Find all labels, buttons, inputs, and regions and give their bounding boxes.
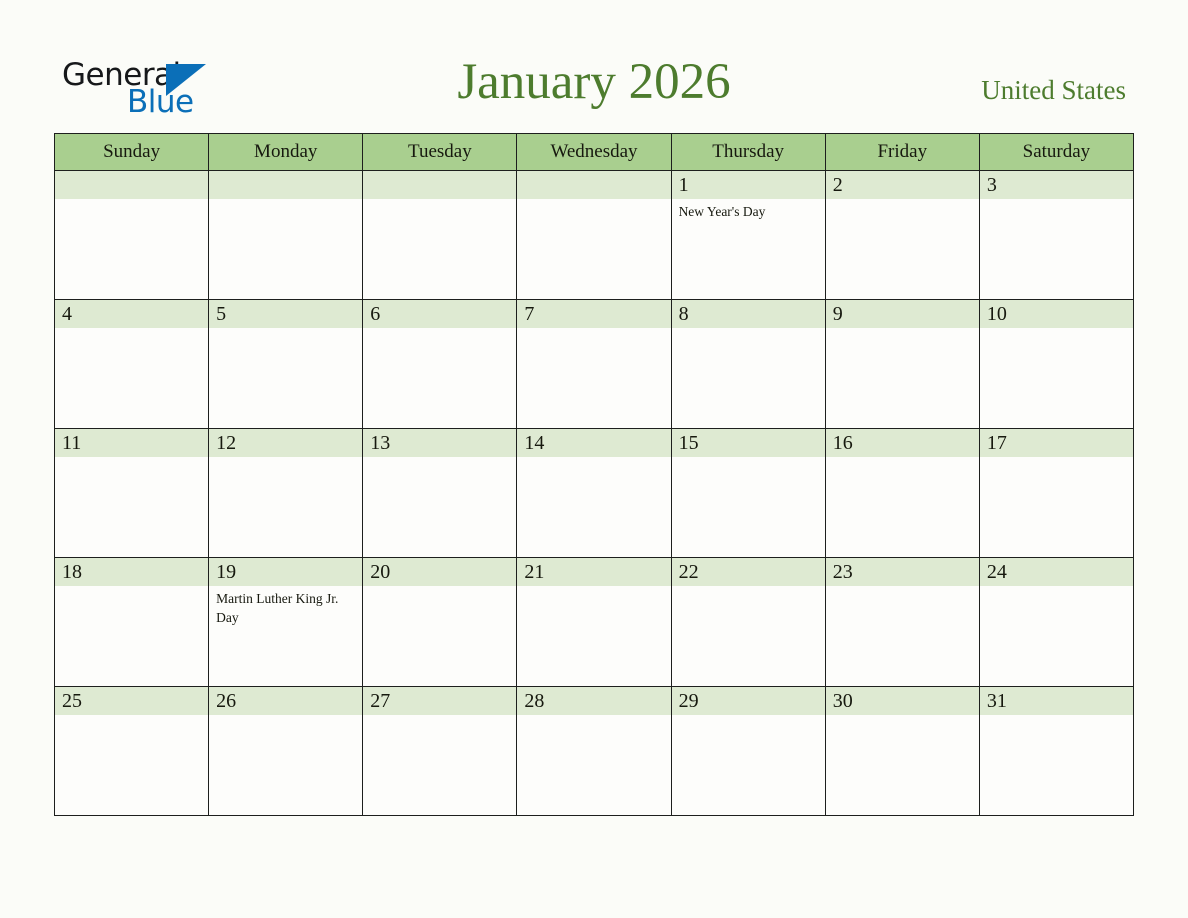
weekday-header-row: SundayMondayTuesdayWednesdayThursdayFrid… [55,134,1134,171]
day-cell-inner: 21 [517,558,670,686]
calendar-empty-cell [209,171,363,300]
day-number-band [672,300,825,328]
calendar-day-cell[interactable]: 26 [209,687,363,816]
calendar-day-cell[interactable]: 25 [55,687,209,816]
day-cell-inner: 14 [517,429,670,557]
day-cell-inner: 19Martin Luther King Jr. Day [209,558,362,686]
day-cell-inner: 24 [980,558,1133,686]
day-number: 26 [216,689,236,714]
calendar-day-cell[interactable]: 19Martin Luther King Jr. Day [209,558,363,687]
day-number: 23 [833,560,853,585]
day-number: 4 [62,302,72,327]
day-cell-inner: 7 [517,300,670,428]
day-cell-inner: 9 [826,300,979,428]
weekday-header-tuesday: Tuesday [363,134,517,171]
day-number: 17 [987,431,1007,456]
day-number-band [363,300,516,328]
calendar-day-cell[interactable]: 6 [363,300,517,429]
calendar-day-cell[interactable]: 23 [825,558,979,687]
calendar-day-cell[interactable]: 14 [517,429,671,558]
day-cell-inner [55,171,208,299]
day-number: 6 [370,302,380,327]
day-number-band [55,171,208,199]
day-number: 13 [370,431,390,456]
day-cell-inner: 3 [980,171,1133,299]
calendar-day-cell[interactable]: 24 [979,558,1133,687]
day-number: 29 [679,689,699,714]
day-cell-inner: 25 [55,687,208,815]
country-label: United States [981,74,1126,106]
calendar-day-cell[interactable]: 2 [825,171,979,300]
holiday-label: New Year's Day [679,202,820,221]
calendar-week-row: 11121314151617 [55,429,1134,558]
day-cell-inner: 30 [826,687,979,815]
calendar-day-cell[interactable]: 18 [55,558,209,687]
day-cell-inner: 17 [980,429,1133,557]
day-cell-inner [209,171,362,299]
calendar-day-cell[interactable]: 8 [671,300,825,429]
day-number: 10 [987,302,1007,327]
calendar-day-cell[interactable]: 3 [979,171,1133,300]
day-number-band [363,171,516,199]
calendar-day-cell[interactable]: 15 [671,429,825,558]
day-number-band [55,300,208,328]
day-events: New Year's Day [679,202,820,221]
day-events: Martin Luther King Jr. Day [216,589,357,627]
calendar-day-cell[interactable]: 28 [517,687,671,816]
day-cell-inner: 5 [209,300,362,428]
day-cell-inner: 27 [363,687,516,815]
calendar-day-cell[interactable]: 7 [517,300,671,429]
calendar-day-cell[interactable]: 16 [825,429,979,558]
calendar-week-row: 25262728293031 [55,687,1134,816]
calendar-day-cell[interactable]: 5 [209,300,363,429]
calendar-day-cell[interactable]: 4 [55,300,209,429]
day-number: 14 [524,431,544,456]
day-number: 7 [524,302,534,327]
calendar-empty-cell [55,171,209,300]
weekday-header-saturday: Saturday [979,134,1133,171]
calendar-day-cell[interactable]: 13 [363,429,517,558]
calendar-day-cell[interactable]: 17 [979,429,1133,558]
day-cell-inner: 4 [55,300,208,428]
calendar-day-cell[interactable]: 20 [363,558,517,687]
calendar-week-row: 1819Martin Luther King Jr. Day2021222324 [55,558,1134,687]
day-number: 12 [216,431,236,456]
day-number: 15 [679,431,699,456]
day-cell-inner: 28 [517,687,670,815]
day-number: 22 [679,560,699,585]
calendar-day-cell[interactable]: 27 [363,687,517,816]
month-calendar-grid: SundayMondayTuesdayWednesdayThursdayFrid… [54,133,1134,816]
weekday-header-wednesday: Wednesday [517,134,671,171]
calendar-day-cell[interactable]: 21 [517,558,671,687]
day-number-band [209,300,362,328]
day-number-band [980,171,1133,199]
day-number: 5 [216,302,226,327]
calendar-empty-cell [517,171,671,300]
day-number: 3 [987,173,997,198]
calendar-page: General Blue January 2026 United States … [0,0,1188,918]
day-cell-inner: 23 [826,558,979,686]
weekday-header-sunday: Sunday [55,134,209,171]
day-number-band [826,300,979,328]
calendar-week-row: 45678910 [55,300,1134,429]
day-number: 1 [679,173,689,198]
day-number: 11 [62,431,81,456]
calendar-day-cell[interactable]: 31 [979,687,1133,816]
calendar-day-cell[interactable]: 22 [671,558,825,687]
day-number: 21 [524,560,544,585]
day-cell-inner: 31 [980,687,1133,815]
day-number: 16 [833,431,853,456]
day-cell-inner: 12 [209,429,362,557]
calendar-day-cell[interactable]: 11 [55,429,209,558]
day-number: 9 [833,302,843,327]
calendar-day-cell[interactable]: 30 [825,687,979,816]
day-cell-inner: 13 [363,429,516,557]
day-cell-inner [363,171,516,299]
day-cell-inner: 8 [672,300,825,428]
day-number: 27 [370,689,390,714]
day-cell-inner: 15 [672,429,825,557]
day-number: 25 [62,689,82,714]
calendar-day-cell[interactable]: 9 [825,300,979,429]
calendar-empty-cell [363,171,517,300]
day-number: 28 [524,689,544,714]
day-number-band [209,171,362,199]
day-cell-inner: 26 [209,687,362,815]
calendar-day-cell[interactable]: 1New Year's Day [671,171,825,300]
day-number: 8 [679,302,689,327]
day-number: 2 [833,173,843,198]
day-cell-inner: 2 [826,171,979,299]
day-cell-inner: 18 [55,558,208,686]
day-number-band [826,171,979,199]
day-number: 30 [833,689,853,714]
calendar-week-row: 1New Year's Day23 [55,171,1134,300]
calendar-day-cell[interactable]: 10 [979,300,1133,429]
day-number-band [672,171,825,199]
calendar-day-cell[interactable]: 29 [671,687,825,816]
day-cell-inner: 10 [980,300,1133,428]
day-number-band [517,300,670,328]
day-number: 19 [216,560,236,585]
page-header: General Blue January 2026 United States [0,0,1188,133]
calendar-day-cell[interactable]: 12 [209,429,363,558]
day-cell-inner: 22 [672,558,825,686]
holiday-label: Martin Luther King Jr. Day [216,589,357,627]
day-number: 20 [370,560,390,585]
day-cell-inner: 20 [363,558,516,686]
weekday-header-friday: Friday [825,134,979,171]
day-cell-inner: 16 [826,429,979,557]
day-number: 18 [62,560,82,585]
weekday-header-monday: Monday [209,134,363,171]
day-cell-inner: 11 [55,429,208,557]
day-number: 24 [987,560,1007,585]
day-number-band [517,171,670,199]
day-cell-inner: 1New Year's Day [672,171,825,299]
day-cell-inner: 29 [672,687,825,815]
day-cell-inner: 6 [363,300,516,428]
weekday-header-thursday: Thursday [671,134,825,171]
day-number: 31 [987,689,1007,714]
day-cell-inner [517,171,670,299]
